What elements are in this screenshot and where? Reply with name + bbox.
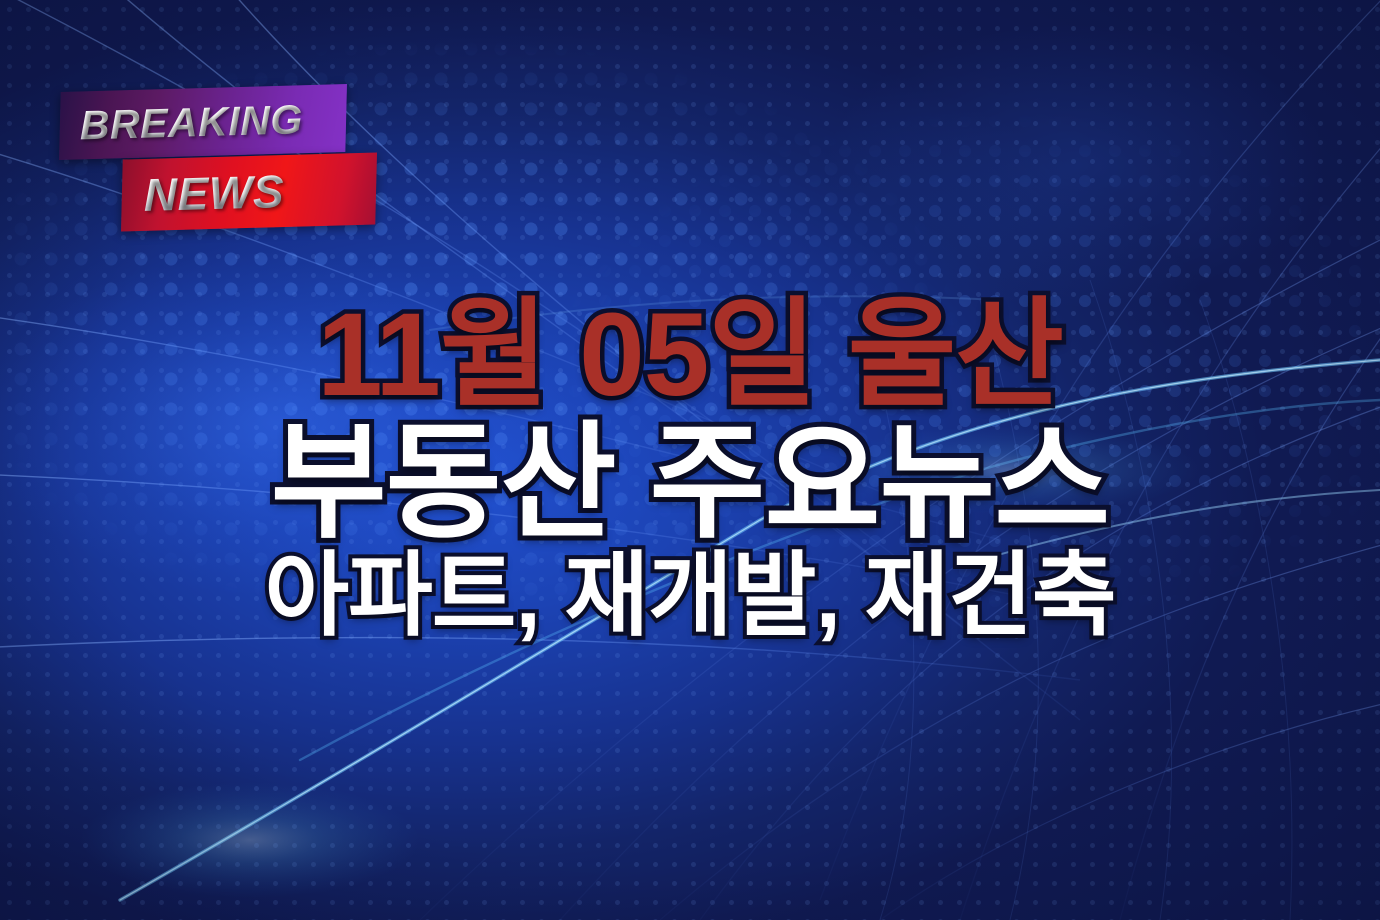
breaking-news-badge: BREAKING NEWS xyxy=(60,88,350,248)
breaking-label: BREAKING xyxy=(80,96,303,149)
news-label: NEWS xyxy=(144,164,285,222)
breaking-news-thumbnail: BREAKING NEWS 11월 05일 울산 부동산 주요뉴스 아파트, 재… xyxy=(0,0,1380,920)
headline-line-2: 부동산 주요뉴스 xyxy=(0,420,1380,546)
news-bar: NEWS xyxy=(121,152,377,231)
headline-line-3: 아파트, 재개발, 재건축 xyxy=(0,550,1380,642)
headline-line-1: 11월 05일 울산 xyxy=(0,296,1380,414)
headline-block: 11월 05일 울산 부동산 주요뉴스 아파트, 재개발, 재건축 xyxy=(0,296,1380,642)
breaking-bar: BREAKING xyxy=(59,84,347,160)
